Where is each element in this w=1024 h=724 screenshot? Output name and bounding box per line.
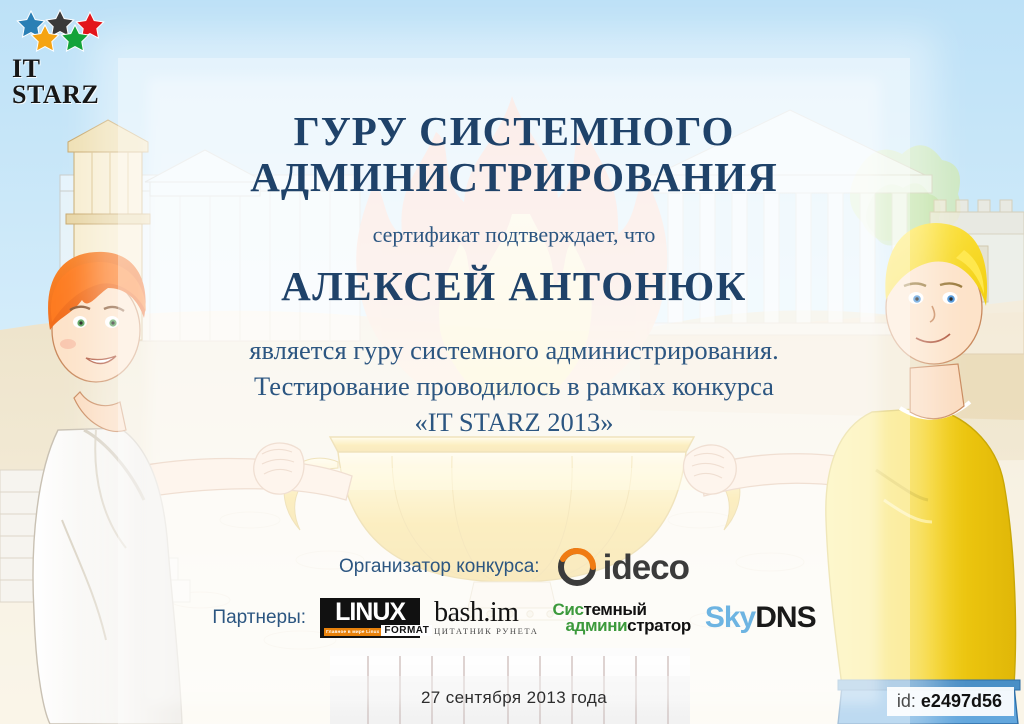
linux-format-word: FORMAT xyxy=(381,625,432,636)
body-line-1: является гуру системного администрирован… xyxy=(118,332,910,368)
sysadmin-line2-green: админи xyxy=(566,616,628,635)
partner-skydns: SkyDNS xyxy=(705,603,816,633)
logo-stars xyxy=(12,8,116,54)
certificate-subtitle: сертификат подтверждает, что xyxy=(128,222,900,248)
certificate-title: ГУРУ СИСТЕМНОГО АДМИНИСТРИРОВАНИЯ xyxy=(128,108,900,200)
body-line-3: «IT STARZ 2013» xyxy=(118,404,910,440)
organizer-label: Организатор конкурса: xyxy=(339,556,540,578)
bashim-tagline: ЦИТАТНИК РУНЕТА xyxy=(434,627,538,636)
organizer-row: Организатор конкурса: ideco xyxy=(128,548,900,586)
skydns-dns: DNS xyxy=(755,603,815,633)
partner-linux-format: LINUX Главное в мире Linux FORMAT xyxy=(320,598,420,638)
id-label: id: xyxy=(897,691,916,711)
title-line-1: ГУРУ СИСТЕМНОГО xyxy=(128,108,900,154)
sysadmin-line2-black: стратор xyxy=(627,616,691,635)
bashim-wordmark: bash.im xyxy=(434,600,538,626)
certificate-canvas: IT STARZ ГУРУ СИСТЕМНОГО АДМИНИСТРИРОВАН… xyxy=(0,0,1024,724)
partners-row: Партнеры: LINUX Главное в мире Linux FOR… xyxy=(128,598,900,638)
id-value: e2497d56 xyxy=(921,691,1002,711)
certificate-id-badge: id: e2497d56 xyxy=(887,687,1014,716)
certificate-content: ГУРУ СИСТЕМНОГО АДМИНИСТРИРОВАНИЯ сертиф… xyxy=(128,0,900,724)
five-stars-icon xyxy=(12,8,116,54)
holder-name: АЛЕКСЕЙ АНТОНЮК xyxy=(128,262,900,310)
body-line-2: Тестирование проводилось в рамках конкур… xyxy=(118,368,910,404)
linux-format-tagline: Главное в мире Linux xyxy=(324,628,381,636)
ideco-logo: ideco xyxy=(558,548,689,586)
it-starz-logo: IT STARZ xyxy=(12,8,116,88)
certificate-body: является гуру системного администрирован… xyxy=(118,332,910,440)
linux-format-main: LINUX xyxy=(335,598,405,626)
skydns-sky: Sky xyxy=(705,603,755,633)
partner-bash-im: bash.im ЦИТАТНИК РУНЕТА xyxy=(434,600,538,636)
partners-label: Партнеры: xyxy=(212,607,306,629)
logo-wordmark: IT STARZ xyxy=(12,56,116,108)
partner-sysadmin: Системный администратор xyxy=(553,602,691,634)
issue-date: 27 сентября 2013 года xyxy=(128,688,900,708)
title-line-2: АДМИНИСТРИРОВАНИЯ xyxy=(128,154,900,200)
ideco-swoosh-icon xyxy=(558,548,596,586)
ideco-wordmark: ideco xyxy=(603,550,689,585)
